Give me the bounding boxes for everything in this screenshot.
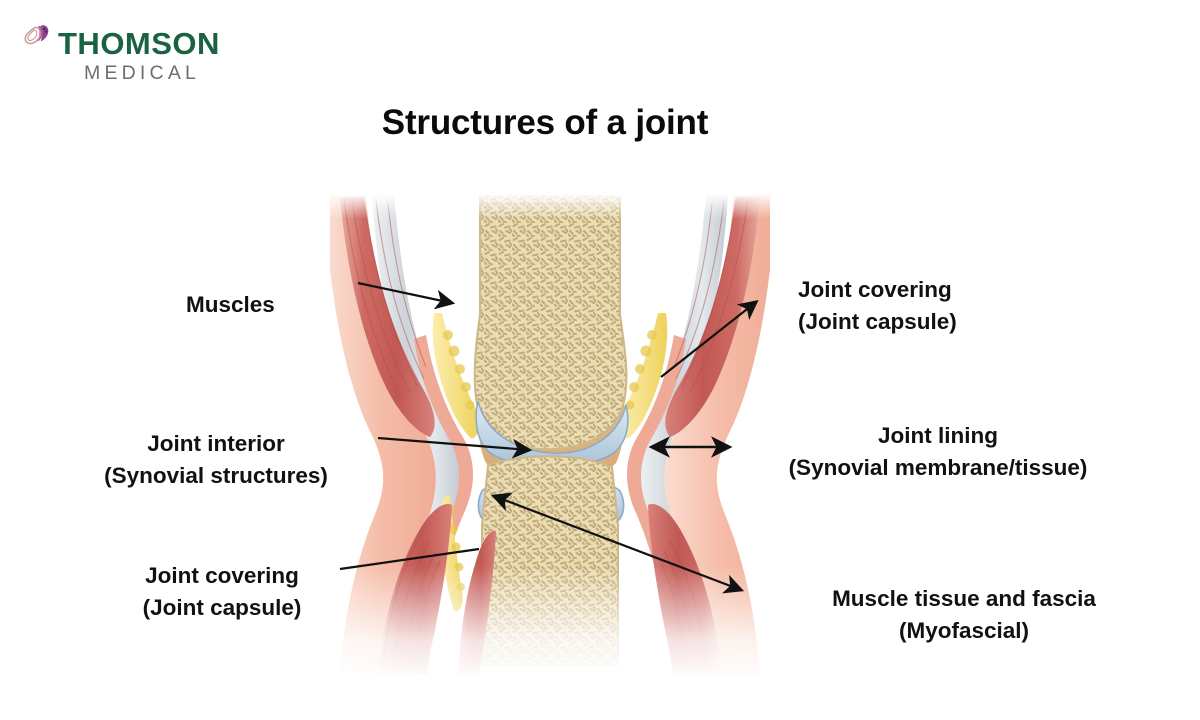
label-muscles-line1: Muscles	[186, 292, 275, 317]
label-joint-covering-right-line2: (Joint capsule)	[798, 306, 957, 338]
label-myofascial: Muscle tissue and fascia (Myofascial)	[799, 583, 1129, 647]
joint-cross-section-illustration	[330, 195, 770, 675]
brand-logo[interactable]: THOMSON MEDICAL	[22, 22, 262, 92]
butterfly-icon	[22, 22, 56, 56]
label-joint-interior: Joint interior (Synovial structures)	[68, 428, 364, 492]
label-joint-lining-line2: (Synovial membrane/tissue)	[742, 452, 1134, 484]
label-joint-covering-right: Joint covering (Joint capsule)	[798, 274, 957, 338]
label-joint-interior-line2: (Synovial structures)	[68, 460, 364, 492]
brand-subtitle: MEDICAL	[84, 64, 200, 84]
label-myofascial-line1: Muscle tissue and fascia	[799, 583, 1129, 615]
label-myofascial-line2: (Myofascial)	[799, 615, 1129, 647]
slide-canvas: THOMSON MEDICAL Structures of a joint	[0, 0, 1200, 720]
label-joint-lining-line1: Joint lining	[742, 420, 1134, 452]
brand-name: THOMSON	[58, 28, 220, 59]
page-title: Structures of a joint	[0, 103, 1090, 143]
label-joint-capsule-left-line1: Joint covering	[112, 560, 332, 592]
label-muscles: Muscles	[186, 289, 275, 321]
label-joint-capsule-left-line2: (Joint capsule)	[112, 592, 332, 624]
label-joint-lining: Joint lining (Synovial membrane/tissue)	[742, 420, 1134, 484]
label-joint-covering-right-line1: Joint covering	[798, 274, 957, 306]
label-joint-interior-line1: Joint interior	[68, 428, 364, 460]
label-joint-capsule-left: Joint covering (Joint capsule)	[112, 560, 332, 624]
